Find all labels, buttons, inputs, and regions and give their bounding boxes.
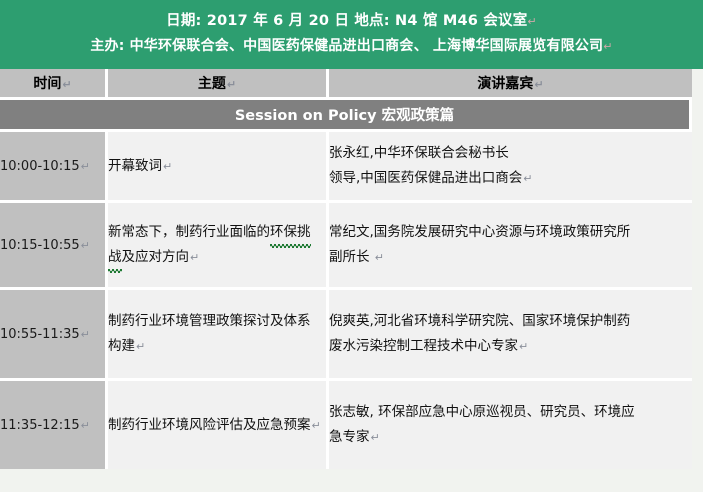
- row-topic-line: 战及应对方向↵: [108, 245, 326, 270]
- row-guest-line-text: 倪爽英,河北省环境科学研究院、国家环境保护制药: [329, 313, 630, 329]
- row-guest: 张志敏, 环保部应急中心原巡视员、研究员、环境应 急专家↵: [329, 381, 692, 469]
- banner-organizers-text: 主办: 中华环保联合会、中国医药保健品进出口商会、 上海博华国际展览有限公司: [90, 38, 603, 54]
- column-header-guest: 演讲嘉宾↵: [329, 69, 692, 100]
- paragraph-mark-icon: ↵: [136, 340, 145, 353]
- event-banner: 日期: 2017 年 6 月 20 日 地点: N4 馆 M46 会议室↵ 主办…: [0, 0, 703, 69]
- agenda-table: 时间↵ 主题↵ 演讲嘉宾↵ Session on Policy 宏观政策篇 10…: [0, 69, 692, 469]
- row-topic-line-text: 制药行业环境风险评估及应急预案: [108, 417, 311, 433]
- session-band-label: Session on Policy 宏观政策篇: [0, 100, 692, 132]
- row-topic: 新常态下，制药行业面临的环保挑 战及应对方向↵: [108, 203, 329, 290]
- spellcheck-underline: 战: [108, 245, 122, 270]
- spellcheck-underline: 环保挑: [270, 220, 311, 245]
- row-topic-line-text: 新常态下，制药行业面临的: [108, 224, 270, 240]
- row-time: 10:55-11:35↵: [0, 290, 108, 381]
- row-topic-line: 制药行业环境管理政策探讨及体系: [108, 309, 326, 334]
- row-topic-line: 开幕致词↵: [108, 154, 326, 179]
- paragraph-mark-icon: ↵: [519, 340, 528, 353]
- row-guest-line-text: 常纪文,国务院发展研究中心资源与环境政策研究所: [329, 224, 630, 240]
- row-guest-line: 领导,中国医药保健品进出口商会↵: [329, 166, 692, 191]
- row-guest-line-text: 急专家: [329, 429, 370, 445]
- table-row: 10:00-10:15↵ 开幕致词↵ 张永红,中华环保联合会秘书长 领导,中国医…: [0, 132, 692, 203]
- paragraph-mark-icon: ↵: [371, 431, 380, 444]
- column-header-topic-label: 主题: [198, 76, 226, 92]
- row-guest-line-text: 废水污染控制工程技术中心专家: [329, 338, 518, 354]
- row-topic: 制药行业环境风险评估及应急预案↵: [108, 381, 329, 469]
- row-topic-line-text: 构建: [108, 338, 135, 354]
- table-row: 10:55-11:35↵ 制药行业环境管理政策探讨及体系 构建↵ 倪爽英,河北省…: [0, 290, 692, 381]
- row-topic-line-text: 制药行业环境管理政策探讨及体系: [108, 313, 311, 329]
- row-topic: 开幕致词↵: [108, 132, 329, 203]
- row-guest: 常纪文,国务院发展研究中心资源与环境政策研究所 副所长 ↵: [329, 203, 692, 290]
- row-time-text: 10:15-10:55: [0, 238, 80, 253]
- row-time-text: 10:55-11:35: [0, 327, 80, 342]
- column-header-time-label: 时间: [33, 76, 61, 92]
- paragraph-mark-icon: ↵: [523, 172, 532, 185]
- paragraph-mark-icon: ↵: [603, 40, 612, 53]
- column-header-topic: 主题↵: [108, 69, 329, 100]
- paragraph-mark-icon: ↵: [534, 78, 543, 91]
- paragraph-mark-icon: ↵: [81, 328, 90, 341]
- document-page: 日期: 2017 年 6 月 20 日 地点: N4 馆 M46 会议室↵ 主办…: [0, 0, 703, 492]
- row-topic-line: 构建↵: [108, 334, 326, 359]
- table-row: 10:15-10:55↵ 新常态下，制药行业面临的环保挑 战及应对方向↵ 常纪文…: [0, 203, 692, 290]
- row-time: 11:35-12:15↵: [0, 381, 108, 469]
- paragraph-mark-icon: ↵: [312, 419, 321, 432]
- row-guest-line: 张志敏, 环保部应急中心原巡视员、研究员、环境应: [329, 400, 692, 425]
- paragraph-mark-icon: ↵: [62, 78, 71, 91]
- row-guest-line: 倪爽英,河北省环境科学研究院、国家环境保护制药: [329, 309, 692, 334]
- paragraph-mark-icon: ↵: [227, 78, 236, 91]
- row-guest-line: 常纪文,国务院发展研究中心资源与环境政策研究所: [329, 220, 692, 245]
- row-topic-line: 制药行业环境风险评估及应急预案↵: [108, 413, 326, 438]
- banner-organizers: 主办: 中华环保联合会、中国医药保健品进出口商会、 上海博华国际展览有限公司↵: [0, 34, 703, 59]
- row-guest-line: 急专家↵: [329, 425, 692, 450]
- row-time: 10:00-10:15↵: [0, 132, 108, 203]
- table-header-row: 时间↵ 主题↵ 演讲嘉宾↵: [0, 69, 692, 100]
- table-row: 11:35-12:15↵ 制药行业环境风险评估及应急预案↵ 张志敏, 环保部应急…: [0, 381, 692, 469]
- row-guest-line-text: 领导,中国医药保健品进出口商会: [329, 170, 522, 186]
- row-guest: 倪爽英,河北省环境科学研究院、国家环境保护制药 废水污染控制工程技术中心专家↵: [329, 290, 692, 381]
- paragraph-mark-icon: ↵: [81, 160, 90, 173]
- row-guest-line-text: 副所长: [329, 249, 370, 265]
- column-header-guest-label: 演讲嘉宾: [477, 76, 533, 92]
- paragraph-mark-icon: ↵: [81, 239, 90, 252]
- row-topic-line-text: 开幕致词: [108, 158, 162, 174]
- banner-date-location-text: 日期: 2017 年 6 月 20 日 地点: N4 馆 M46 会议室: [166, 13, 527, 29]
- row-guest: 张永红,中华环保联合会秘书长 领导,中国医药保健品进出口商会↵: [329, 132, 692, 203]
- row-time-text: 10:00-10:15: [0, 159, 80, 174]
- row-guest-line-text: 张志敏, 环保部应急中心原巡视员、研究员、环境应: [329, 404, 635, 420]
- row-topic: 制药行业环境管理政策探讨及体系 构建↵: [108, 290, 329, 381]
- row-guest-line: 废水污染控制工程技术中心专家↵: [329, 334, 692, 359]
- session-band-row: Session on Policy 宏观政策篇: [0, 100, 692, 132]
- row-topic-line: 新常态下，制药行业面临的环保挑: [108, 220, 326, 245]
- banner-date-location: 日期: 2017 年 6 月 20 日 地点: N4 馆 M46 会议室↵: [0, 9, 703, 34]
- row-time-text: 11:35-12:15: [0, 418, 80, 433]
- paragraph-mark-icon: ↵: [190, 251, 199, 264]
- row-topic-line-text: 及应对方向: [122, 249, 190, 265]
- paragraph-mark-icon: ↵: [527, 15, 536, 28]
- paragraph-mark-icon: ↵: [375, 251, 384, 264]
- row-guest-line: 张永红,中华环保联合会秘书长: [329, 141, 692, 166]
- column-header-time: 时间↵: [0, 69, 108, 100]
- row-guest-line: 副所长 ↵: [329, 245, 692, 270]
- row-guest-line-text: 张永红,中华环保联合会秘书长: [329, 145, 509, 161]
- paragraph-mark-icon: ↵: [81, 419, 90, 432]
- paragraph-mark-icon: ↵: [163, 160, 172, 173]
- row-time: 10:15-10:55↵: [0, 203, 108, 290]
